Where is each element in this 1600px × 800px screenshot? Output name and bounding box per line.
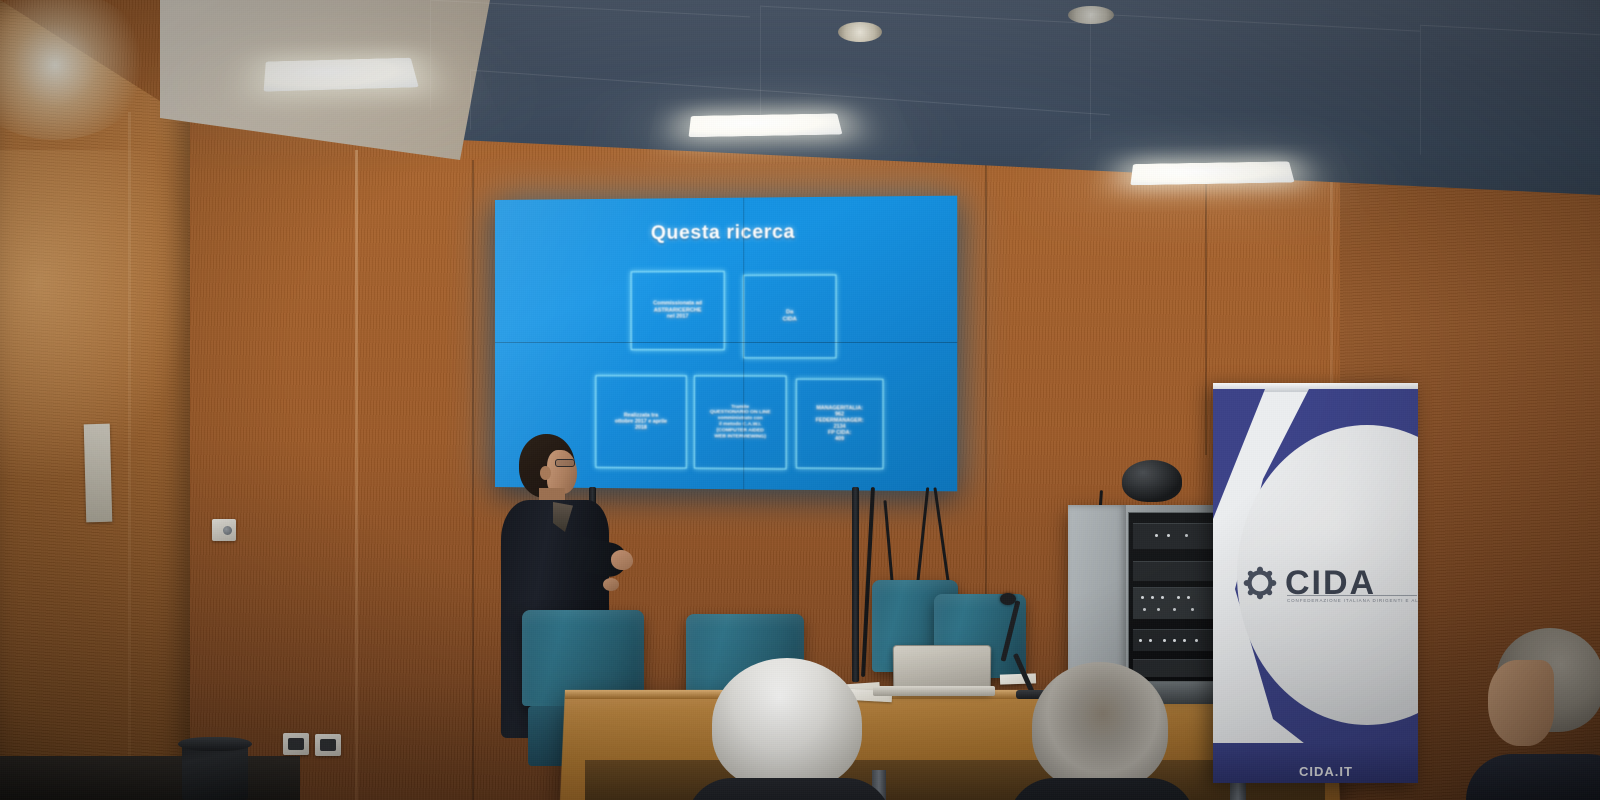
wall-panel-joint xyxy=(355,150,358,800)
audience-face xyxy=(1488,660,1554,746)
ceiling-speaker xyxy=(838,22,882,42)
waste-bin xyxy=(182,742,248,800)
videowall-bezel-seam xyxy=(743,198,744,490)
presenter-ear xyxy=(540,466,551,480)
microphone-head xyxy=(1000,593,1016,605)
ceiling-light-panel xyxy=(689,114,843,138)
laptop-keyboard[interactable] xyxy=(873,686,995,696)
wall-socket[interactable] xyxy=(283,733,309,755)
audience-shoulders xyxy=(1466,754,1600,800)
ceiling-speaker xyxy=(1068,6,1114,24)
slide-title: Questa ricerca xyxy=(495,220,957,246)
audience-member-1 xyxy=(712,658,862,800)
slide-box-line: WEB INTERVIEWING) xyxy=(710,434,771,440)
glasses-icon xyxy=(555,459,575,467)
cida-tagline: CONFEDERAZIONE ITALIANA DIRIGENTI E ALTE… xyxy=(1287,595,1417,603)
presenter-hand xyxy=(611,550,633,570)
audience-member-2 xyxy=(1032,662,1168,800)
rack-unit xyxy=(1133,587,1213,619)
left-wall xyxy=(0,0,190,800)
ceiling-light-panel xyxy=(264,58,419,92)
audience-shoulders xyxy=(1008,778,1196,800)
floor xyxy=(0,756,300,800)
ceiling-light-panel xyxy=(1130,161,1294,185)
slide-box-method: Tramite QUESTIONARIO ON LINE somministra… xyxy=(694,375,787,469)
banner-url: CIDA.IT xyxy=(1299,764,1353,779)
wall-notice-paper xyxy=(84,424,113,523)
presenter-hand xyxy=(603,578,619,591)
wall-panel-joint xyxy=(472,160,474,800)
videowall-bezel-seam xyxy=(495,342,957,343)
slide-box-line: CIDA xyxy=(783,316,797,323)
audience-hair xyxy=(712,658,862,790)
cida-rollup-banner: CIDA CONFEDERAZIONE ITALIANA DIRIGENTI E… xyxy=(1213,383,1418,783)
slide-box-commissioned: Commissionata ad ASTRARICERCHE nel 2017 xyxy=(631,271,725,350)
slide-box-line: (COMPUTER AIDED xyxy=(710,428,771,434)
rack-top-equipment xyxy=(1122,460,1182,502)
wall-panel-joint xyxy=(128,112,131,800)
gear-icon xyxy=(1243,566,1277,600)
slide-box-line: 409 xyxy=(816,436,864,443)
audience-shoulders xyxy=(686,778,892,800)
slide-box-line: Commissionata ad xyxy=(653,301,702,308)
audience-member-3 xyxy=(1486,628,1600,800)
slide-box-sample: MANAGERITALIA: 962 FEDERMANAGER: 2134 FP… xyxy=(796,379,884,469)
slide-box-line: nel 2017 xyxy=(653,314,702,321)
wall-socket[interactable] xyxy=(315,734,341,756)
rack-unit xyxy=(1133,523,1213,549)
slide-box-client: Da CIDA xyxy=(743,274,836,358)
wall-panel-joint xyxy=(1205,175,1207,455)
rack-front-panel xyxy=(1128,512,1216,682)
audience-hair xyxy=(1032,662,1168,790)
slide-box-line: MANAGERITALIA: xyxy=(816,405,864,411)
screen-stand-post xyxy=(852,487,859,682)
rack-side-panel xyxy=(1068,505,1126,685)
conference-room-photo: Questa ricerca Commissionata ad ASTRARIC… xyxy=(0,0,1600,800)
thermostat[interactable] xyxy=(212,519,236,541)
rack-unit xyxy=(1133,561,1213,581)
rack-unit xyxy=(1133,629,1213,651)
